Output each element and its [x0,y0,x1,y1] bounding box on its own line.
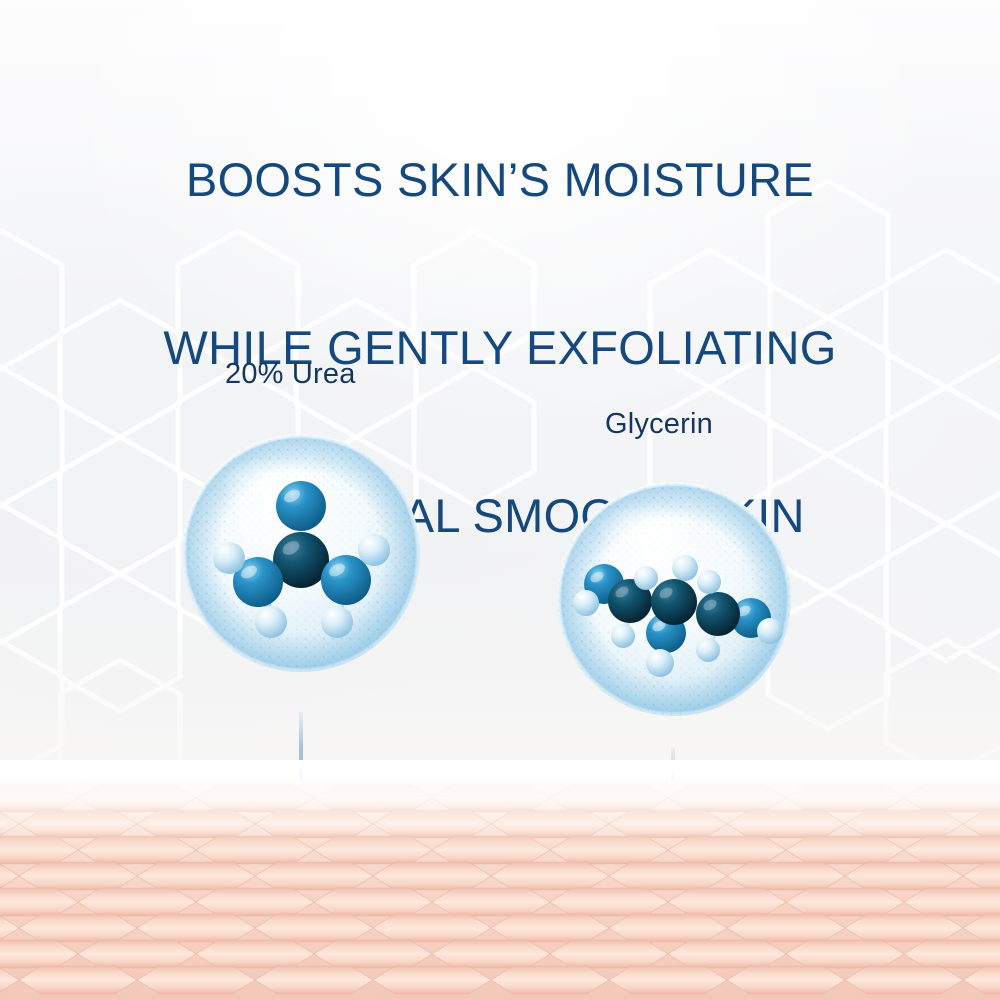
headline-line-3: TO REVEAL SMOOTH SKIN [0,488,1000,544]
infographic-canvas: BOOSTS SKIN’S MOISTURE WHILE GENTLY EXFO… [0,0,1000,1000]
ingredient-label-glycerin: Glycerin [605,408,713,441]
glycerin-bubble [553,478,795,720]
headline-line-1: BOOSTS SKIN’S MOISTURE [0,152,1000,208]
headline-line-2: WHILE GENTLY EXFOLIATING [0,320,1000,376]
skin-surface-texture [0,780,1000,1000]
headline: BOOSTS SKIN’S MOISTURE WHILE GENTLY EXFO… [0,40,1000,656]
urea-bubble [178,430,424,676]
ingredient-label-urea: 20% Urea [225,358,356,391]
